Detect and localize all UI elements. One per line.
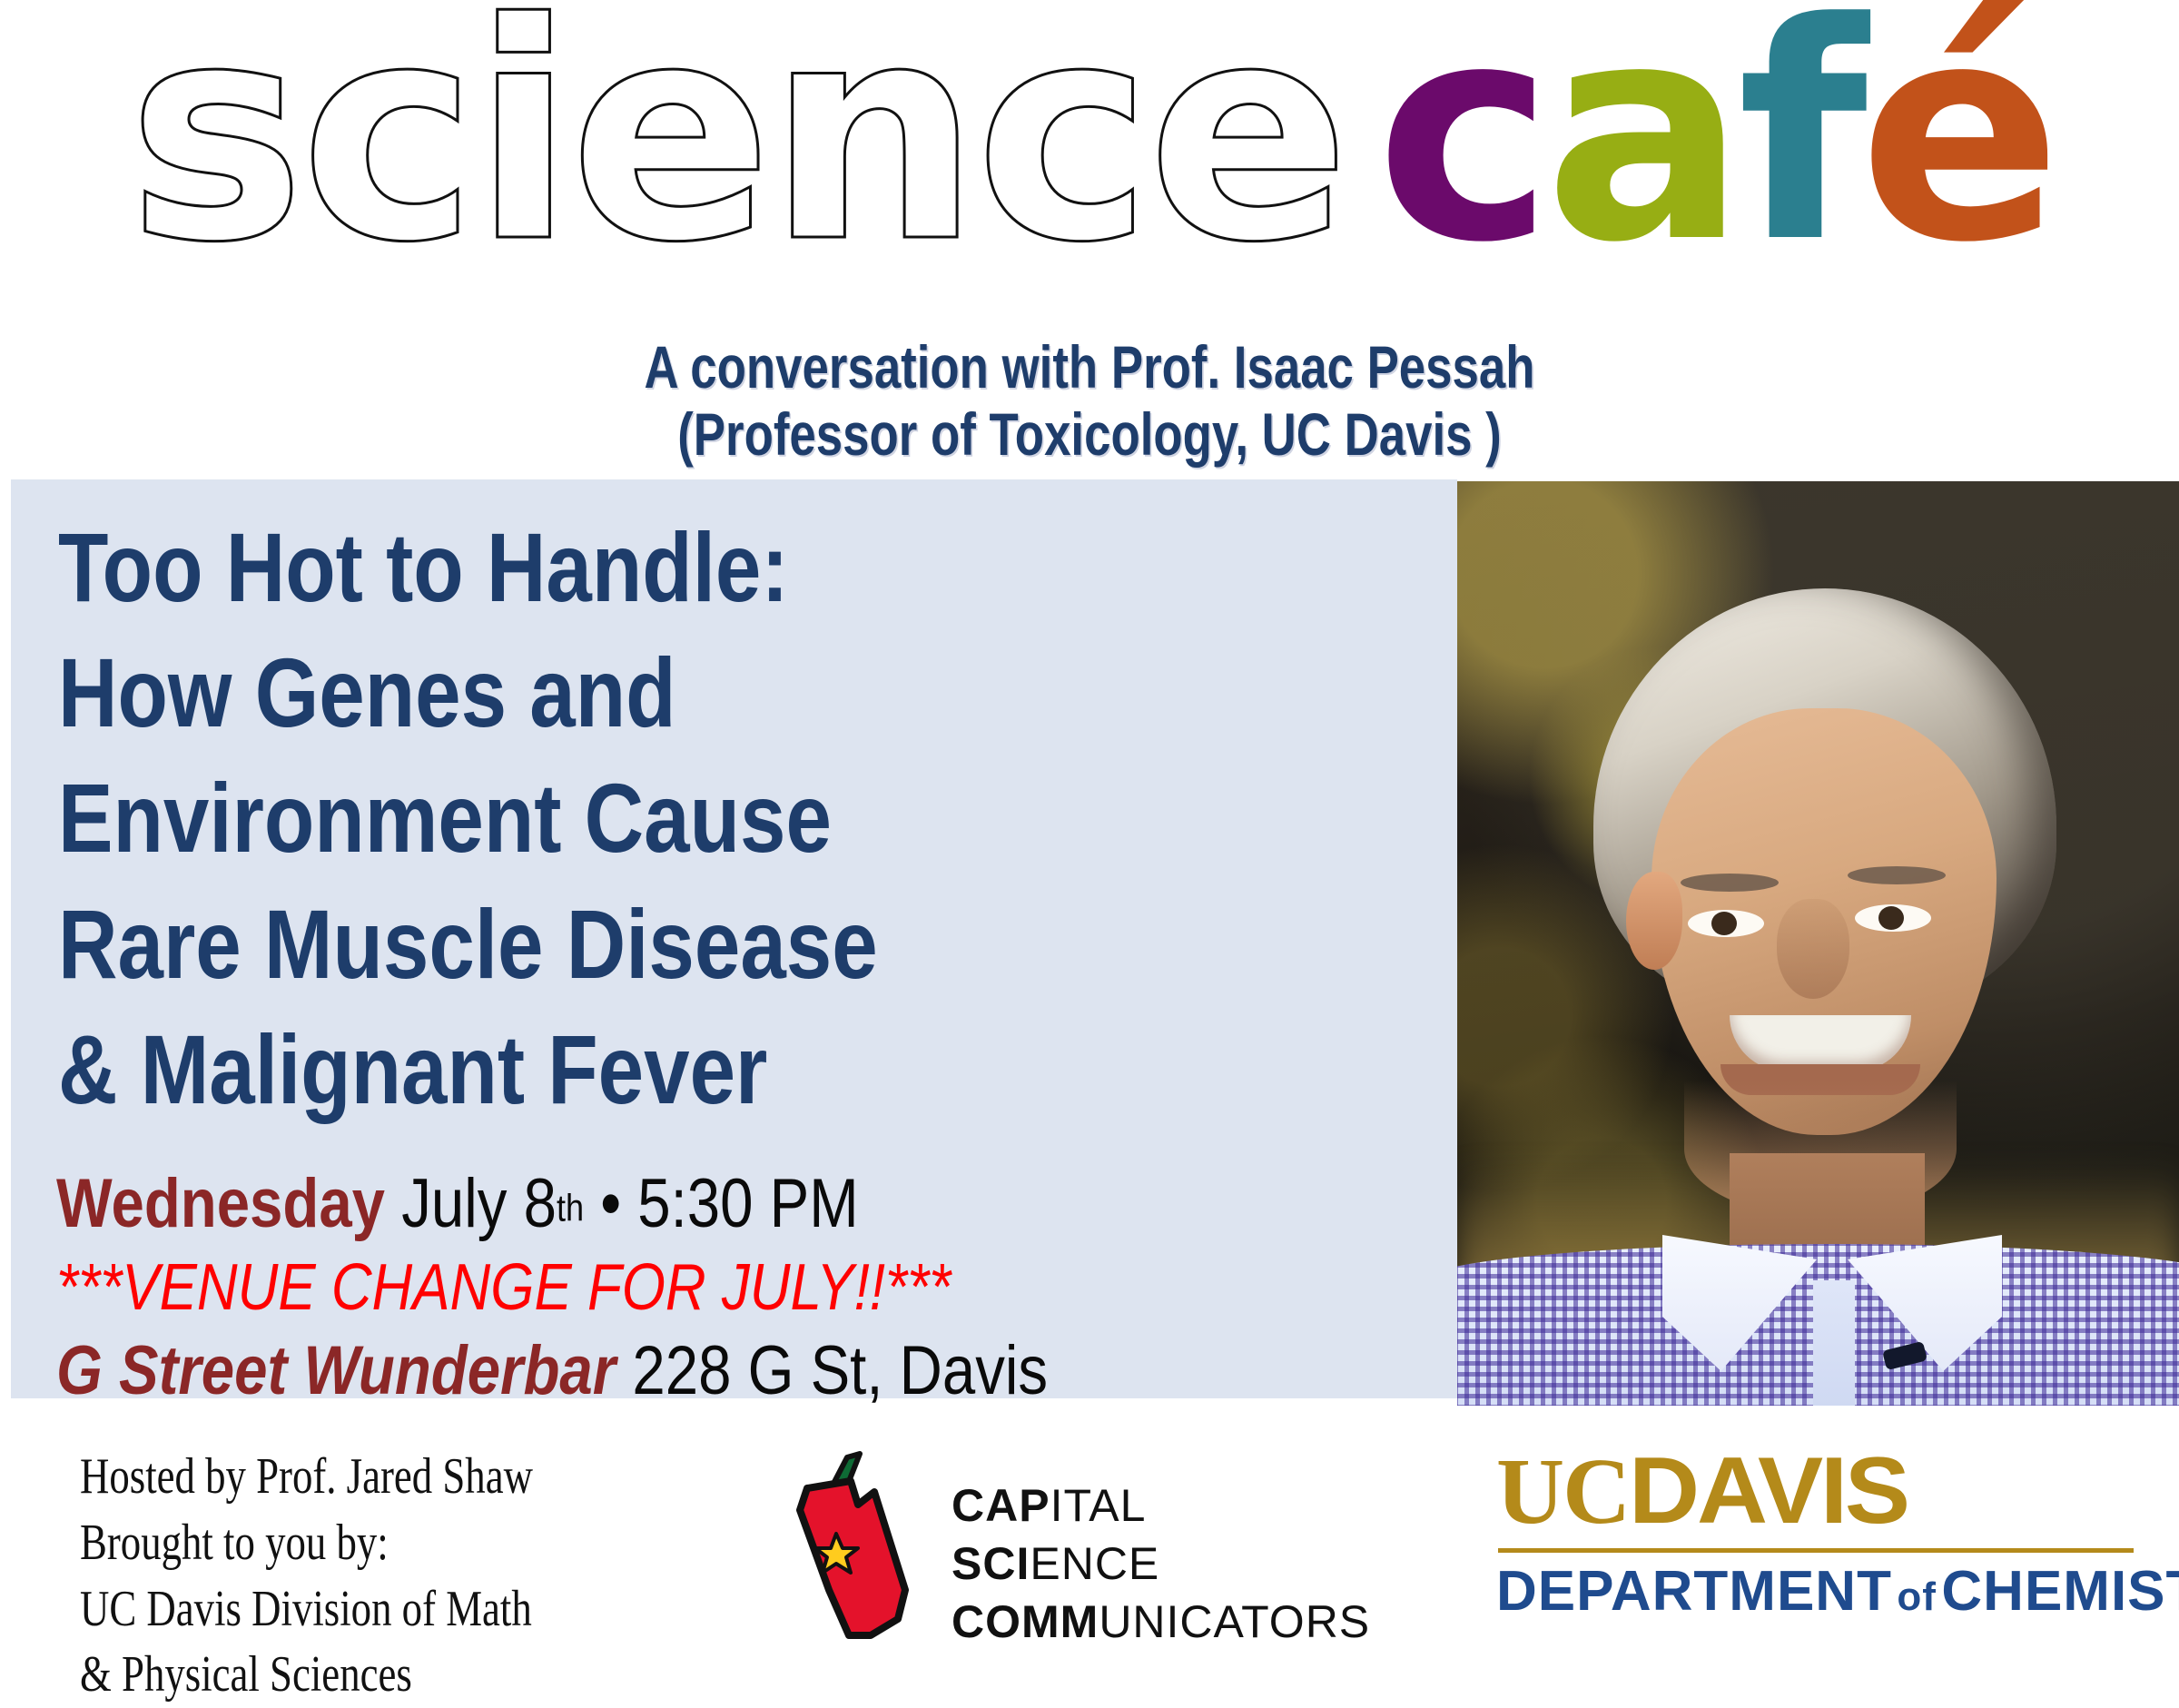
venue-change-notice: ***VENUE CHANGE FOR JULY!!*** [56,1251,951,1324]
csc-row-2-bold: SCI [951,1538,1030,1589]
hosted-line-3: UC Davis Division of Math [80,1576,533,1643]
talk-title-line-5: & Malignant Fever [58,1007,1209,1132]
california-chili-icon [792,1449,937,1644]
photo-nose [1777,899,1849,999]
hosted-line-1: Hosted by Prof. Jared Shaw [80,1444,533,1510]
logo-cafe-word: café [1375,0,2053,283]
venue-name: G Street Wunderbar [56,1332,616,1409]
event-details: Wednesday July 8th • 5:30 PM ***VENUE CH… [56,1170,1445,1422]
talk-title-line-2: How Genes and [58,630,1209,755]
csc-row-3-bold: COMM [951,1596,1099,1647]
venue-change-notice-line: ***VENUE CHANGE FOR JULY!!*** [56,1255,1251,1320]
photo-ear [1626,872,1682,970]
speaker-subtitle: A conversation with Prof. Isaac Pessah (… [0,334,2179,469]
event-info-panel: Too Hot to Handle: How Genes and Environ… [11,479,1457,1398]
talk-title: Too Hot to Handle: How Genes and Environ… [58,505,1429,1132]
csc-row-3-rest: UNICATORS [1099,1596,1370,1647]
venue-address: 228 G St, Davis [616,1332,1048,1409]
ucd-divider-rule [1498,1548,2134,1553]
talk-title-line-3: Environment Cause [58,755,1209,881]
ucd-dept-subject: CHEMISTRY [1941,1560,2179,1623]
photo-brow-right [1848,866,1946,884]
logo-letter-f: f [1738,0,1859,283]
logo-letter-c: c [1375,0,1544,283]
csc-row-2: SCIENCE [951,1535,1370,1593]
hosted-by-block: Hosted by Prof. Jared Shaw Brought to yo… [80,1444,533,1708]
ucd-department-line: DEPARTMENT of CHEMISTRY [1496,1564,2150,1620]
capital-science-communicators-logo: CAPITAL SCIENCE COMMUNICATORS [788,1438,1405,1665]
event-datetime-line: Wednesday July 8th • 5:30 PM [56,1170,1251,1239]
hosted-line-2: Brought to you by: [80,1510,533,1576]
talk-title-line-4: Rare Muscle Disease [58,882,1209,1007]
photo-eye-right [1855,904,1931,932]
csc-row-3: COMMUNICATORS [951,1593,1370,1651]
speaker-photo [1457,481,2179,1406]
csc-row-2-rest: ENCE [1030,1538,1159,1589]
ucd-dept-word: DEPARTMENT [1496,1560,1892,1623]
csc-row-1-bold: CAP [951,1480,1050,1531]
csc-wordmark: CAPITAL SCIENCE COMMUNICATORS [951,1476,1370,1651]
logo-letter-e-acute: é [1859,0,2053,283]
subtitle-line-1: A conversation with Prof. Isaac Pessah [218,334,1961,401]
event-date-spacer [385,1165,401,1242]
photo-eye-left [1688,910,1764,937]
talk-title-line-1: Too Hot to Handle: [58,505,1209,630]
photo-shirt-placket [1813,1280,1855,1406]
event-date-ordinal: th [557,1187,584,1229]
subtitle-line-2: (Professor of Toxicology, UC Davis ) [218,401,1961,469]
ucd-wordmark: UCDAVIS [1496,1444,2150,1539]
ucd-dept-of: of [1897,1575,1937,1619]
photo-brow-left [1681,874,1779,892]
ucd-davis-text: DAVIS [1629,1444,1908,1538]
csc-row-1-rest: ITAL [1050,1480,1147,1531]
event-date-separator: • [584,1165,637,1242]
event-day: Wednesday [56,1165,385,1242]
science-cafe-logo: science café [0,0,2179,313]
csc-row-1: CAPITAL [951,1476,1370,1535]
hosted-line-4: & Physical Sciences [80,1642,533,1708]
logo-letter-a: a [1544,0,1738,283]
uc-davis-chemistry-logo: UCDAVIS DEPARTMENT of CHEMISTRY [1496,1444,2150,1625]
logo-science-word: science [127,0,1375,283]
ucd-uc-text: UC [1496,1439,1629,1544]
event-time: 5:30 PM [637,1165,858,1242]
logo-wordmark: science café [127,0,2053,283]
footer: Hosted by Prof. Jared Shaw Brought to yo… [0,1418,2179,1684]
photo-teeth [1730,1015,1911,1071]
venue-line: G Street Wunderbar 228 G St, Davis [56,1337,1251,1406]
event-date: July 8 [401,1165,557,1242]
